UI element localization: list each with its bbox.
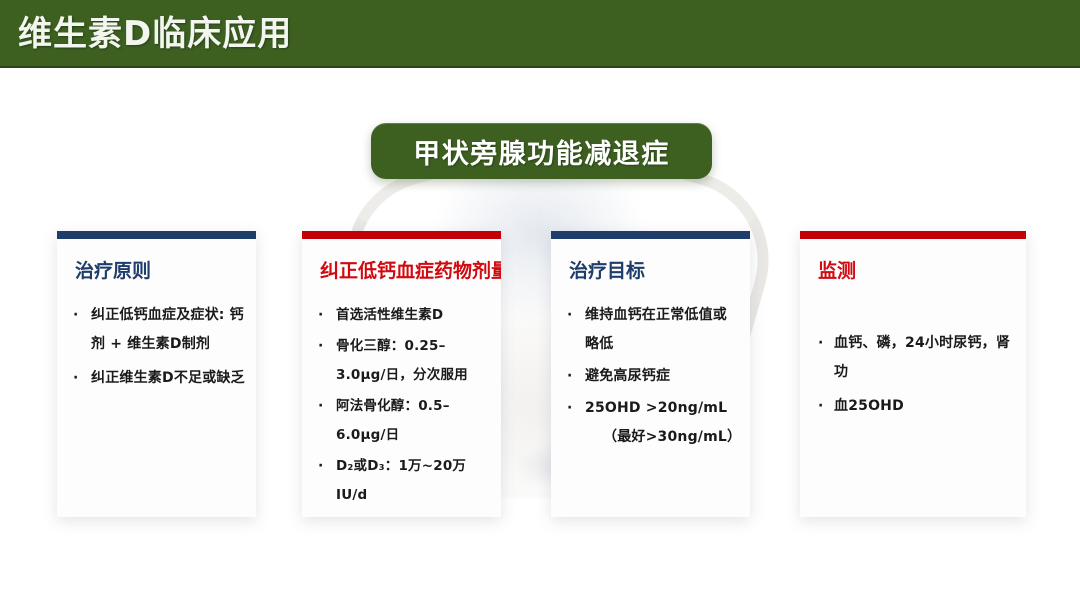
- list-item: · D₂或D₃：1万~20万IU/d: [314, 452, 491, 510]
- bullet-dot-icon: ·: [567, 301, 573, 330]
- card-heading: 治疗原则: [57, 239, 256, 284]
- card-accent-bar: [57, 231, 256, 239]
- card-body: · 纠正低钙血症及症状: 钙剂 + 维生素D制剂 · 纠正维生素D不足或缺乏: [57, 284, 256, 393]
- card-treatment-principles[interactable]: 治疗原则 · 纠正低钙血症及症状: 钙剂 + 维生素D制剂 · 纠正维生素D不足…: [57, 231, 256, 517]
- card-treatment-goals[interactable]: 治疗目标 · 维持血钙在正常低值或略低 · 避免高尿钙症 · 25OHD >20…: [551, 231, 750, 517]
- list-item: · 避免高尿钙症: [563, 362, 740, 391]
- list-item: · 血钙、磷，24小时尿钙，肾功: [818, 329, 1016, 387]
- list-item-label: 纠正低钙血症及症状: 钙剂 + 维生素D制剂: [91, 307, 244, 352]
- card-accent-bar: [551, 231, 750, 239]
- list-item-label: 纠正维生素D不足或缺乏: [91, 370, 245, 386]
- section-title-pill: 甲状旁腺功能减退症: [371, 123, 712, 179]
- list-item-subline: （最好>30ng/mL）: [585, 423, 740, 452]
- bullet-list: · 首选活性维生素D · 骨化三醇：0.25–3.0μg/日，分次服用 · 阿法…: [314, 301, 491, 510]
- list-item-label: 25OHD >20ng/mL: [585, 400, 727, 416]
- bullet-dot-icon: ·: [73, 364, 79, 393]
- slide: 维生素D临床应用 甲状旁腺功能减退症 治疗原则 · 纠正低钙血症及症状: 钙剂 …: [0, 0, 1080, 608]
- list-item: · 维持血钙在正常低值或略低: [563, 301, 740, 359]
- list-item-label: D₂或D₃：1万~20万IU/d: [336, 458, 466, 503]
- bullet-dot-icon: ·: [818, 329, 824, 358]
- card-body: · 首选活性维生素D · 骨化三醇：0.25–3.0μg/日，分次服用 · 阿法…: [302, 284, 501, 510]
- list-item: · 25OHD >20ng/mL （最好>30ng/mL）: [563, 394, 740, 452]
- bullet-dot-icon: ·: [73, 301, 79, 330]
- bullet-dot-icon: ·: [567, 394, 573, 423]
- list-item: · 纠正维生素D不足或缺乏: [69, 364, 246, 393]
- bullet-list: · 维持血钙在正常低值或略低 · 避免高尿钙症 · 25OHD >20ng/mL…: [563, 301, 740, 452]
- card-heading: 纠正低钙血症药物剂量: [302, 239, 501, 284]
- list-item-label: 维持血钙在正常低值或略低: [585, 307, 727, 352]
- bullet-dot-icon: ·: [318, 452, 324, 481]
- header-band: 维生素D临床应用: [0, 0, 1080, 68]
- list-item-label: 骨化三醇：0.25–3.0μg/日，分次服用: [336, 338, 468, 383]
- bullet-dot-icon: ·: [318, 332, 324, 361]
- list-item-label: 血25OHD: [834, 398, 904, 414]
- card-body: · 血钙、磷，24小时尿钙，肾功 · 血25OHD: [800, 284, 1026, 421]
- bullet-dot-icon: ·: [567, 362, 573, 391]
- bullet-dot-icon: ·: [318, 392, 324, 421]
- list-item: · 首选活性维生素D: [314, 301, 491, 330]
- section-title-label: 甲状旁腺功能减退症: [413, 132, 670, 171]
- bullet-dot-icon: ·: [818, 392, 824, 421]
- bullet-list: · 纠正低钙血症及症状: 钙剂 + 维生素D制剂 · 纠正维生素D不足或缺乏: [69, 301, 246, 393]
- card-row: 治疗原则 · 纠正低钙血症及症状: 钙剂 + 维生素D制剂 · 纠正维生素D不足…: [0, 231, 1080, 531]
- bullet-dot-icon: ·: [318, 301, 324, 330]
- card-monitoring[interactable]: 监测 · 血钙、磷，24小时尿钙，肾功 · 血25OHD: [800, 231, 1026, 517]
- card-accent-bar: [800, 231, 1026, 239]
- page-title: 维生素D临床应用: [18, 8, 292, 60]
- card-accent-bar: [302, 231, 501, 239]
- list-item-label: 首选活性维生素D: [336, 307, 443, 323]
- card-hypocalcemia-drug-dosage[interactable]: 纠正低钙血症药物剂量 · 首选活性维生素D · 骨化三醇：0.25–3.0μg/…: [302, 231, 501, 517]
- list-item-label: 阿法骨化醇：0.5–6.0μg/日: [336, 398, 450, 443]
- list-item: · 骨化三醇：0.25–3.0μg/日，分次服用: [314, 332, 491, 390]
- bullet-list: · 血钙、磷，24小时尿钙，肾功 · 血25OHD: [818, 329, 1016, 421]
- list-item-label: 避免高尿钙症: [585, 368, 670, 384]
- card-heading: 治疗目标: [551, 239, 750, 284]
- list-item: · 血25OHD: [818, 392, 1016, 421]
- list-item: · 纠正低钙血症及症状: 钙剂 + 维生素D制剂: [69, 301, 246, 359]
- list-item: · 阿法骨化醇：0.5–6.0μg/日: [314, 392, 491, 450]
- card-heading: 监测: [800, 239, 1026, 284]
- card-body: · 维持血钙在正常低值或略低 · 避免高尿钙症 · 25OHD >20ng/mL…: [551, 284, 750, 452]
- list-item-label: 血钙、磷，24小时尿钙，肾功: [834, 335, 1010, 380]
